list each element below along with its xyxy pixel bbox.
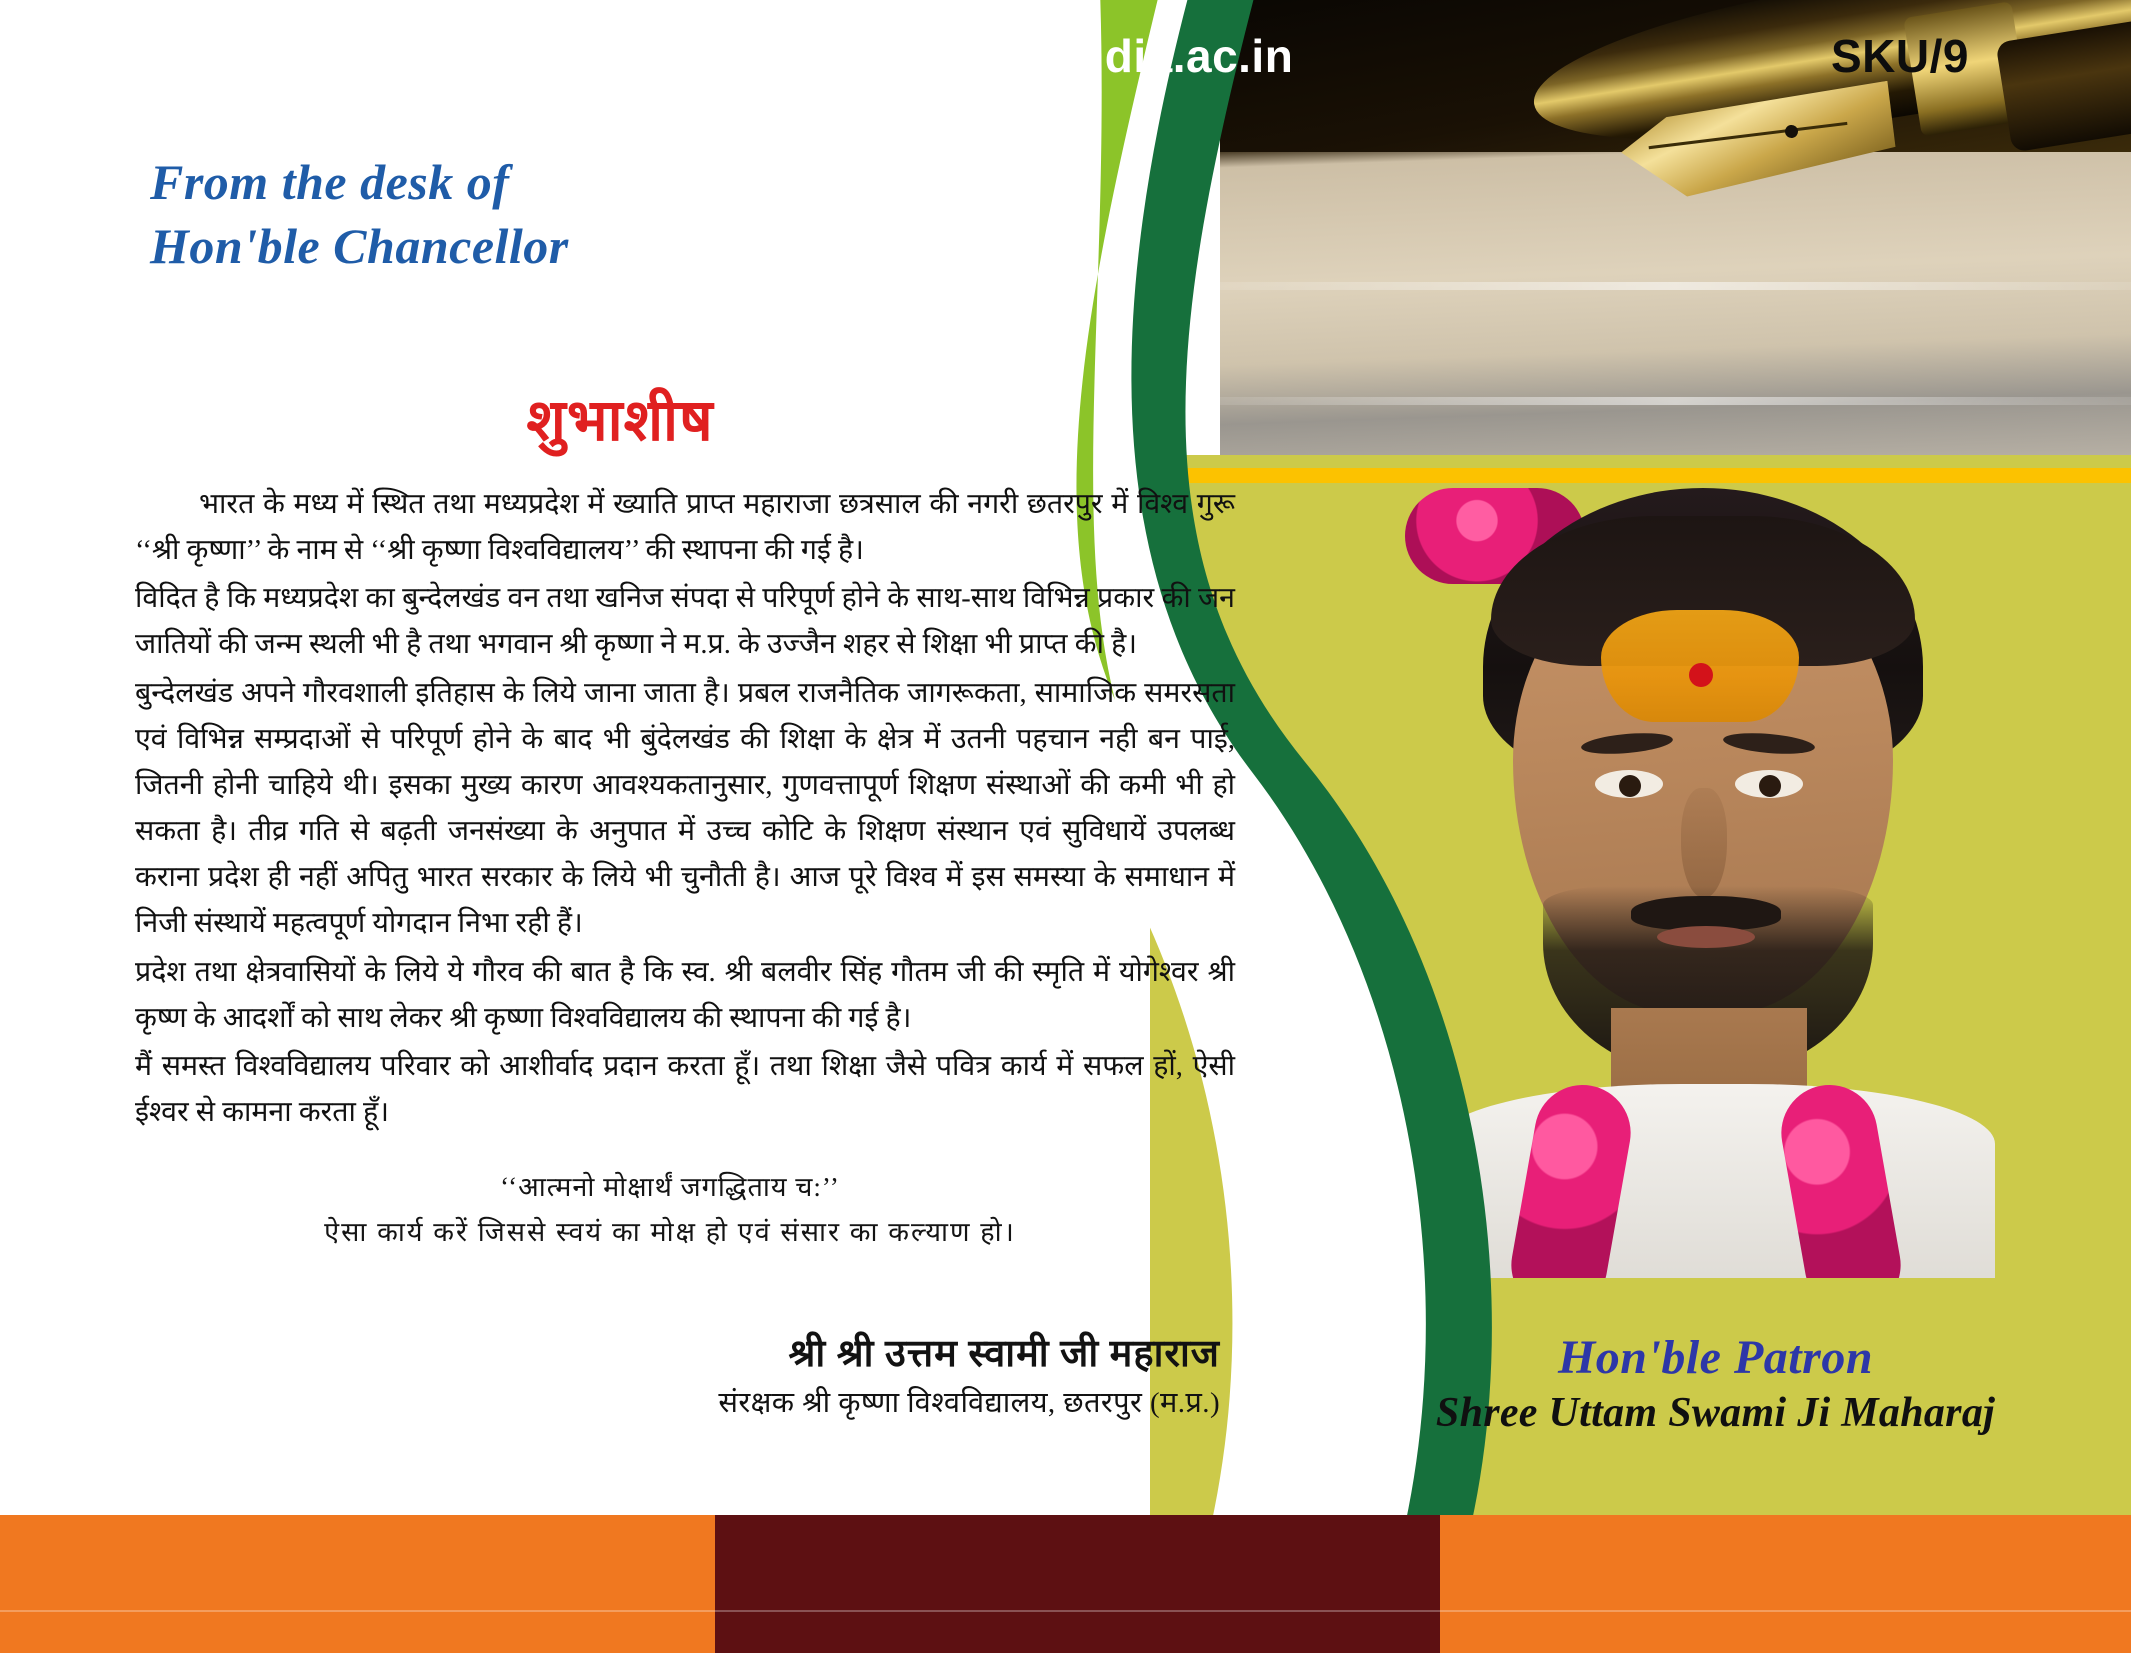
signature-block: श्री श्री उत्तम स्वामी जी महाराज संरक्षक… [300,1326,1220,1421]
message-heading: शुभाशीष [120,378,1120,457]
patron-portrait-photo [1405,488,2131,1278]
artwork-column [1150,0,2131,1515]
portrait-lips [1657,926,1755,948]
body-paragraph: मैं समस्त विश्वविद्यालय परिवार को आशीर्व… [135,1044,1235,1136]
portrait-pupil-right [1759,775,1781,797]
signatory-role: संरक्षक श्री कृष्णा विश्वविद्यालय, छतरपु… [300,1382,1220,1421]
paper-edge-highlight [1220,282,2131,290]
body-paragraph: भारत के मध्य में स्थित तथा मध्यप्रदेश मे… [135,482,1235,574]
sanskrit-quote-block: ‘‘आत्मनो मोक्षार्थं जगद्धिताय च:’’ ऐसा क… [180,1165,1160,1256]
website-link[interactable]: www.skuindia.ac.in [715,0,1440,112]
portrait-pupil-left [1619,775,1641,797]
page-code: SKU/9 [1760,0,2040,112]
paper-edge-highlight-2 [1220,397,2131,405]
desk-line-2: Hon'ble Chancellor [150,214,1050,278]
desk-line-1: From the desk of [150,150,1050,214]
footer-divider-line [0,1610,2131,1612]
sanskrit-quote: ‘‘आत्मनो मोक्षार्थं जगद्धिताय च:’’ [180,1165,1160,1210]
portrait-moustache [1631,896,1781,930]
sanskrit-quote-meaning: ऐसा कार्य करें जिससे स्वयं का मोक्ष हो ए… [180,1210,1160,1255]
footer-center-block [715,1515,1440,1653]
page-title: From the desk of Hon'ble Chancellor [150,150,1050,278]
patron-name: Shree Uttam Swami Ji Maharaj [1300,1389,2131,1437]
portrait-nose [1681,788,1727,898]
brochure-page: From the desk of Hon'ble Chancellor शुभा… [0,0,2131,1653]
message-body: भारत के मध्य में स्थित तथा मध्यप्रदेश मे… [135,482,1235,1138]
body-paragraph: बुन्देलखंड अपने गौरवशाली इतिहास के लिये … [135,671,1235,948]
patron-caption: Hon'ble Patron Shree Uttam Swami Ji Maha… [1300,1330,2131,1437]
body-paragraph: प्रदेश तथा क्षेत्रवासियों के लिये ये गौर… [135,950,1235,1042]
patron-title: Hon'ble Patron [1300,1330,2131,1385]
signatory-name: श्री श्री उत्तम स्वामी जी महाराज [300,1326,1220,1378]
gold-divider-stripe [1150,468,2131,483]
body-paragraph: विदित है कि मध्यप्रदेश का बुन्देलखंड वन … [135,576,1235,668]
portrait-tilak-dot [1689,663,1713,687]
footer-bar [0,1515,2131,1653]
